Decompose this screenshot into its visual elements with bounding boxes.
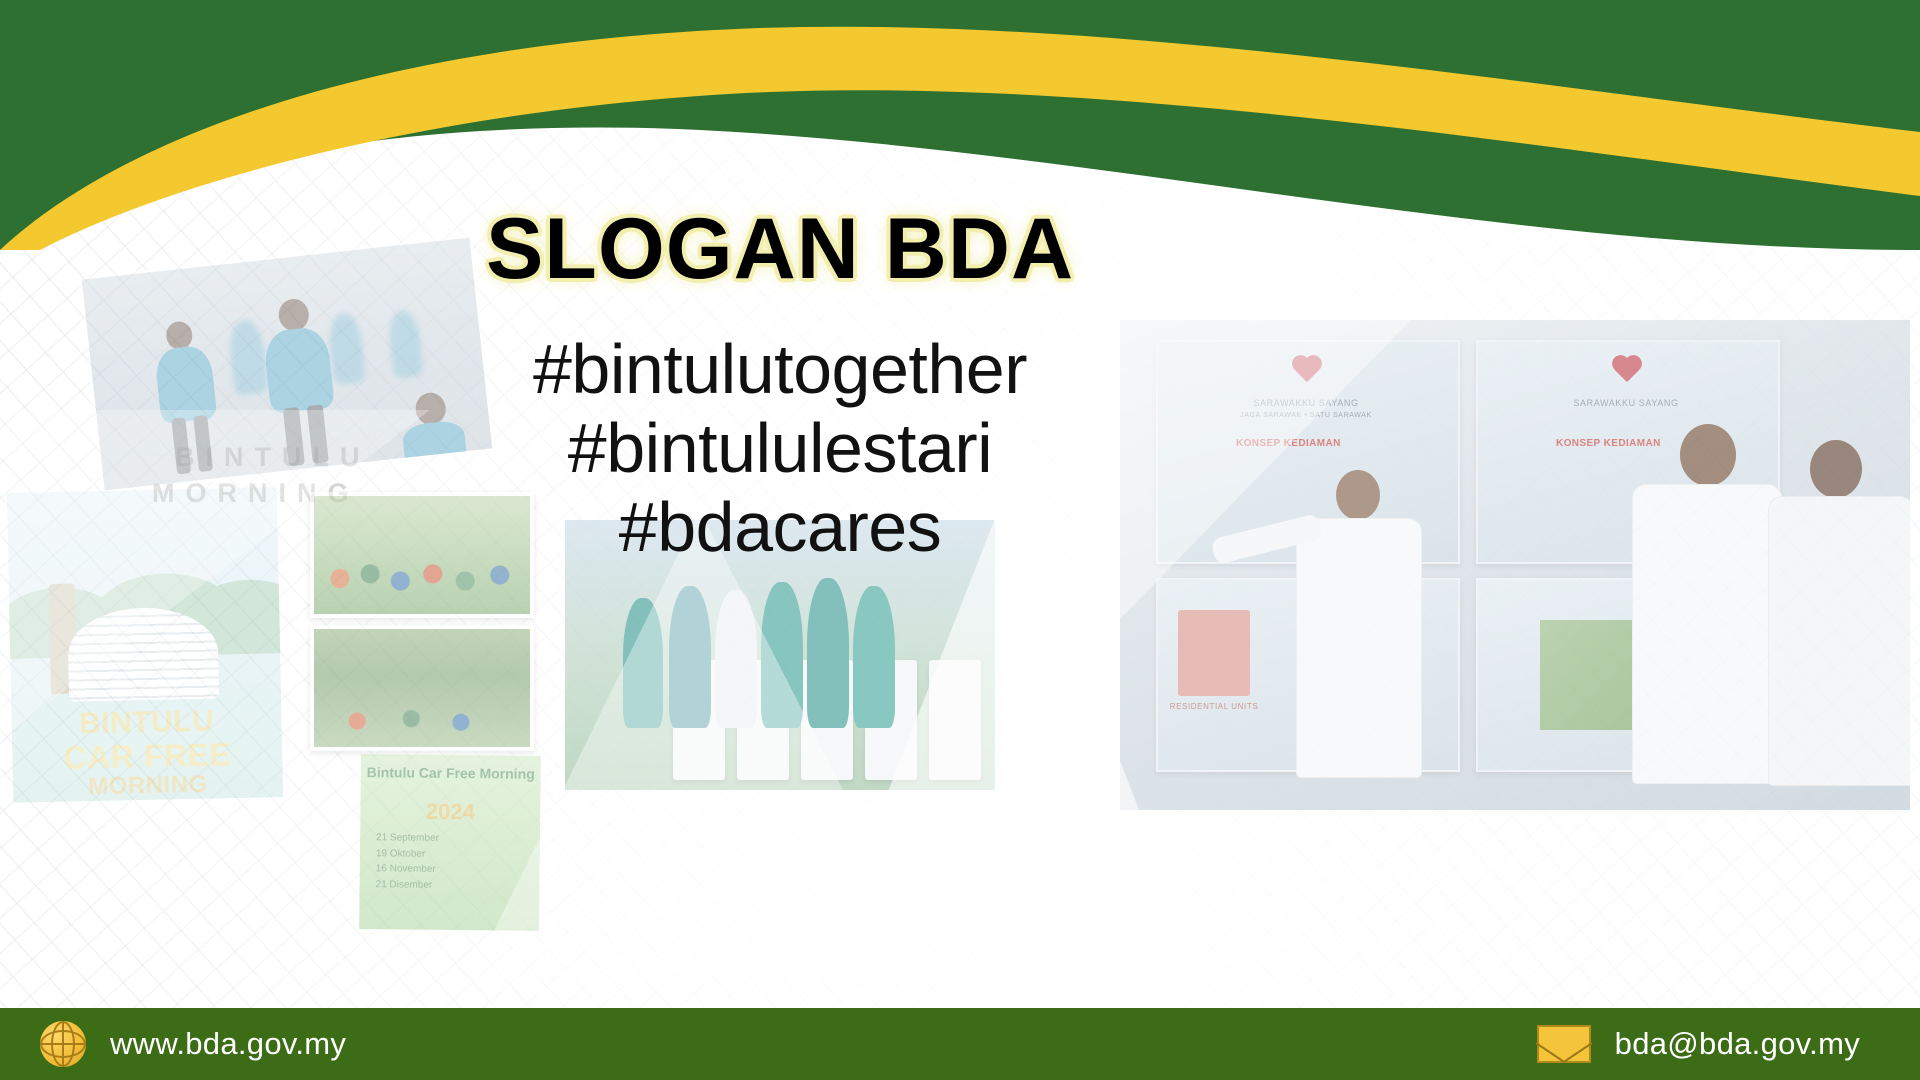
slide-canvas: BINTULU CAR FREE MORNING BINTULU MORNING…: [0, 0, 1920, 1080]
envelope-icon: [1537, 1025, 1591, 1063]
decorative-triangle-overlay: [0, 180, 1920, 1000]
page-title: SLOGAN BDA: [0, 200, 1560, 299]
footer-website[interactable]: www.bda.gov.my: [40, 1008, 346, 1080]
hashtag-bintululestari: #bintululestari: [0, 409, 1560, 488]
globe-icon: [40, 1021, 86, 1067]
footer-email[interactable]: bda@bda.gov.my: [1537, 1008, 1860, 1080]
hashtag-bdacares: #bdacares: [0, 488, 1560, 567]
hashtag-block: #bintulutogether #bintululestari #bdacar…: [0, 330, 1560, 567]
email-label: bda@bda.gov.my: [1615, 1026, 1860, 1062]
website-label: www.bda.gov.my: [110, 1026, 346, 1062]
hashtag-bintulutogether: #bintulutogether: [0, 330, 1560, 409]
